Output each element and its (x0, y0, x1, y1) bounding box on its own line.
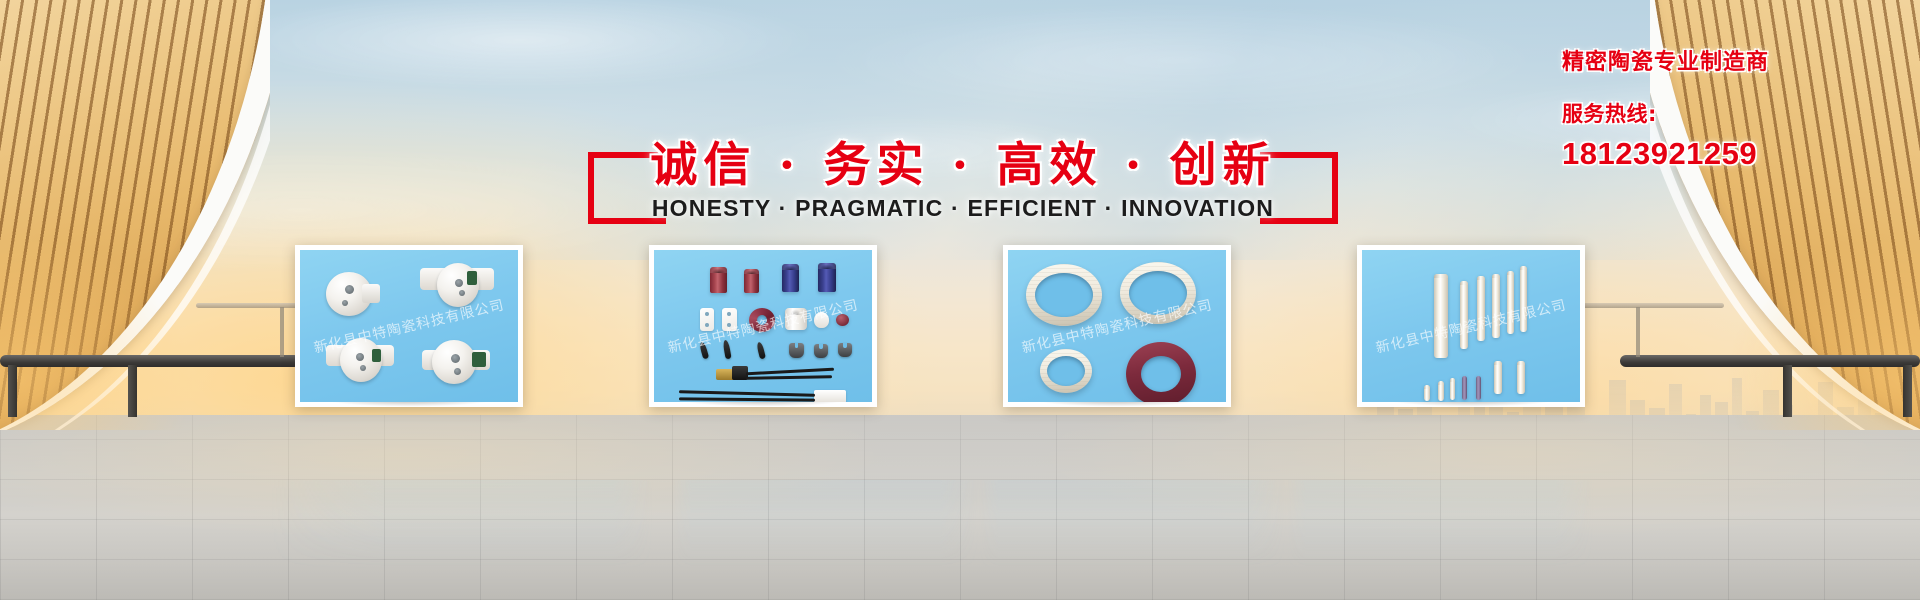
clip-notch (795, 343, 799, 348)
ceramic-ring-large (1026, 264, 1102, 326)
ceramic-pin (1438, 381, 1444, 401)
plate-hole (727, 312, 731, 316)
holder-hole (459, 290, 465, 296)
panel-image-area: 新化县中特陶瓷科技有限公司 (1008, 250, 1226, 402)
ceramic-rod-large (1434, 274, 1448, 358)
railing-post (1783, 365, 1792, 417)
rod-end (1460, 281, 1468, 285)
ceramic-rod (1520, 266, 1527, 332)
sleeve-bore (744, 269, 759, 274)
holder-hole (345, 285, 354, 294)
ceramic-lamp-holder (432, 340, 476, 384)
metal-clip (789, 343, 804, 358)
railing-far-post (280, 307, 284, 357)
ceramic-tube (785, 308, 807, 330)
rod-end (1517, 361, 1525, 365)
ceramic-rod (1477, 276, 1485, 341)
holder-hole (451, 354, 460, 363)
ceramic-rod-medium (1494, 361, 1502, 394)
black-wire (679, 390, 815, 397)
panel-drop-shadow (1008, 400, 1226, 416)
contact-needle (722, 340, 731, 360)
holder-hole (455, 279, 463, 287)
ring-bore (1047, 356, 1085, 386)
contact-needle (756, 342, 766, 360)
railing-far-post (1636, 307, 1640, 357)
rod-end (1520, 266, 1527, 270)
terrace-railing-left (0, 355, 300, 425)
ceramic-rod-medium (1517, 361, 1525, 394)
ceramic-cap (814, 312, 829, 328)
sleeve-bore (710, 267, 727, 273)
insulator-sleeve-blue (782, 264, 799, 292)
panel-image-area: 新化县中特陶瓷科技有限公司 (1362, 250, 1580, 402)
rod-end (1438, 381, 1444, 385)
hotline-label: 服务热线: (1562, 98, 1832, 128)
slogan-chinese: 诚信 · 务实 · 高效 · 创新 (588, 126, 1338, 195)
rod-end (1492, 274, 1500, 278)
black-wire (746, 375, 832, 380)
panel-image-area: 新化县中特陶瓷科技有限公司 (654, 250, 872, 402)
railing-post (128, 365, 137, 417)
product-panel-ceramic-rods[interactable]: 新化县中特陶瓷科技有限公司 (1357, 245, 1585, 407)
holder-side-tab (362, 284, 380, 303)
product-panel-ceramic-rings[interactable]: 新化县中特陶瓷科技有限公司 (1003, 245, 1231, 407)
terrace-railing-right (1620, 355, 1920, 425)
rod-end (1450, 378, 1455, 382)
railing-post (1903, 365, 1912, 417)
ring-bore (1141, 356, 1181, 392)
ceramic-pin (1424, 385, 1430, 401)
slogan-block: 诚信 · 务实 · 高效 · 创新 HONESTY · PRAGMATIC · … (588, 140, 1338, 245)
ceramic-rod (1507, 271, 1514, 334)
slogan-english: HONESTY · PRAGMATIC · EFFICIENT · INNOVA… (588, 195, 1338, 222)
contact-needle (699, 342, 709, 360)
ceramic-pin (1450, 378, 1455, 400)
clip-notch (843, 343, 846, 348)
company-tagline: 精密陶瓷专业制造商 (1562, 50, 1832, 76)
ceramic-rod (1460, 281, 1468, 349)
holder-hole (356, 353, 364, 361)
sleeve-bore (782, 264, 799, 270)
panel-image-area: 新化县中特陶瓷科技有限公司 (300, 250, 518, 402)
holder-hole (360, 365, 366, 371)
panel-drop-shadow (300, 400, 518, 416)
holder-contact-pin (472, 352, 486, 367)
rod-end (1507, 271, 1514, 275)
plate-hole (727, 323, 731, 327)
panel-watermark: 新化县中特陶瓷科技有限公司 (1374, 294, 1569, 357)
railing-post (8, 365, 17, 417)
ceramic-plate (700, 308, 714, 331)
product-panel-ceramic-sleeves[interactable]: 新化县中特陶瓷科技有限公司 (649, 245, 877, 407)
white-connector (814, 390, 846, 402)
ring-bore (757, 315, 767, 325)
rod-end (1477, 276, 1485, 280)
hotline-number[interactable]: 18123921259 (1562, 136, 1832, 172)
panel-drop-shadow (654, 400, 872, 416)
ring-bore (1035, 273, 1093, 317)
panel-drop-shadow (1362, 400, 1580, 416)
ceramic-ring-small (1040, 349, 1092, 393)
holder-hole (454, 368, 461, 375)
tube-bore (789, 308, 803, 315)
contact-block: 精密陶瓷专业制造商 服务热线: 18123921259 (1562, 50, 1832, 172)
ceramic-rod (1492, 274, 1500, 338)
plate-hole (705, 323, 709, 327)
ceramic-lamp-holder (437, 263, 479, 307)
panel-reflections (0, 480, 1920, 600)
rod-end (1424, 385, 1430, 389)
product-panel-row: 新化县中特陶瓷科技有限公司 (295, 245, 1585, 407)
black-wire (679, 397, 815, 401)
ring-bore (1129, 271, 1187, 315)
metal-clip (838, 343, 852, 357)
maroon-gasket-ring (1126, 342, 1196, 402)
clip-notch (819, 344, 822, 349)
maroon-ring (749, 308, 775, 332)
ceramic-pin-purple (1476, 376, 1481, 400)
promotional-banner: 诚信 · 务实 · 高效 · 创新 HONESTY · PRAGMATIC · … (0, 0, 1920, 600)
metal-clip (814, 344, 828, 358)
holder-contact-pin (372, 349, 381, 362)
railing-bar (1620, 355, 1920, 367)
maroon-cap (836, 314, 849, 326)
rod-end (1494, 361, 1502, 365)
sleeve-bore (818, 263, 836, 269)
holder-hole (342, 300, 348, 306)
railing-bar (0, 355, 300, 367)
ceramic-pin-purple (1462, 376, 1467, 400)
ceramic-ring-large (1120, 262, 1196, 324)
insulator-sleeve-red (710, 267, 727, 293)
ceramic-plate (722, 308, 737, 331)
product-panel-ceramic-lamp-holders[interactable]: 新化县中特陶瓷科技有限公司 (295, 245, 523, 407)
rod-end (1434, 274, 1448, 278)
insulator-sleeve-blue (818, 263, 836, 292)
plate-hole (705, 312, 709, 316)
insulator-sleeve-red (744, 269, 759, 293)
holder-contact-pin (467, 271, 477, 285)
black-wire (746, 368, 834, 376)
